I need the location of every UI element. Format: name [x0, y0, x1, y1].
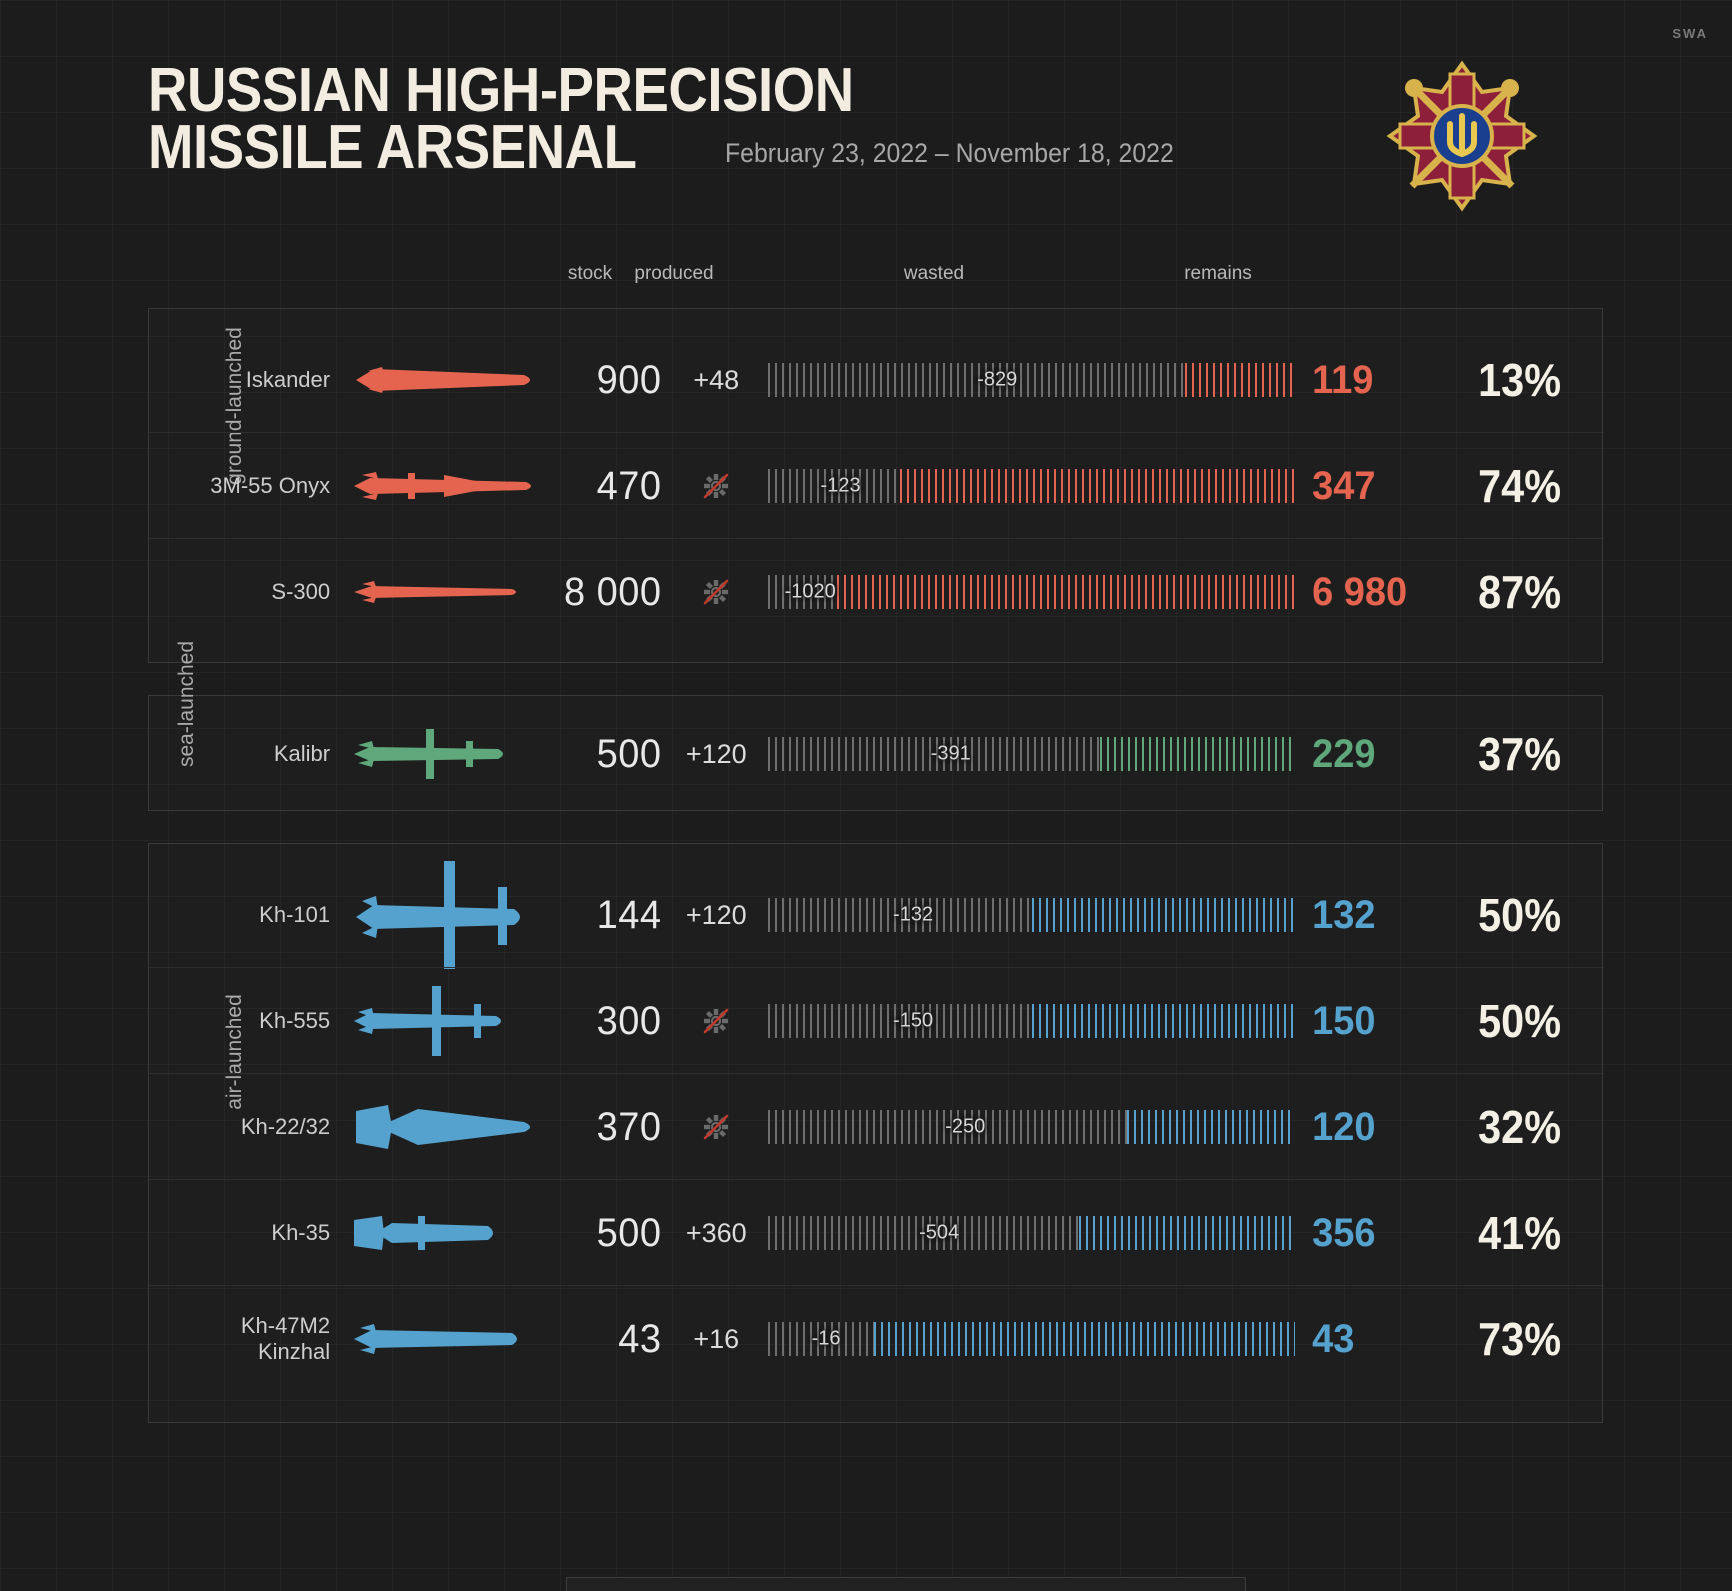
stock-value: 300 — [550, 999, 662, 1044]
no-production-icon — [701, 1006, 731, 1036]
missile-row[interactable]: Kh-35 500 +360 -504 356 41% — [149, 1180, 1604, 1286]
wasted-remains-bar: -123 — [768, 463, 1295, 509]
bar-segment-remains — [1127, 1110, 1296, 1144]
page-title-line2: MISSILE ARSENAL — [148, 119, 637, 176]
remains-value: 347 — [1295, 464, 1427, 509]
watermark-label: SWA — [1672, 26, 1708, 41]
missile-row[interactable]: Kh-47M2Kinzhal 43 +16 -16 43 73% — [149, 1286, 1604, 1392]
remains-percent-value: 32% — [1443, 1100, 1595, 1154]
produced-value — [665, 577, 768, 607]
missile-row[interactable]: Kalibr 500 +120 -391 229 37% — [149, 701, 1604, 807]
missile-row[interactable]: S-300 8 000 — [149, 539, 1604, 645]
stock-value: 470 — [550, 464, 662, 509]
missile-kalibr-icon — [348, 725, 547, 783]
missile-name-label: S-300 — [149, 579, 348, 605]
column-header-produced: produced — [620, 263, 728, 285]
missile-row[interactable]: 3M-55 Onyx 470 — [149, 433, 1604, 539]
missile-kinzhal-icon — [348, 1322, 547, 1356]
wasted-value-label: -829 — [977, 369, 1017, 392]
missile-name-label: Kh-47M2Kinzhal — [149, 1313, 348, 1365]
bar-segment-remains — [1079, 1216, 1295, 1250]
missile-name-label: Kh-22/32 — [149, 1114, 348, 1140]
missile-kh101-icon — [348, 855, 547, 975]
wasted-value-label: -132 — [893, 904, 933, 927]
bar-segment-remains — [1100, 737, 1295, 771]
stock-value: 43 — [550, 1317, 662, 1362]
wasted-remains-bar: -504 — [768, 1210, 1295, 1256]
wasted-value-label: -504 — [919, 1222, 959, 1245]
remains-percent-value: 87% — [1443, 565, 1595, 619]
missile-iskander-icon — [348, 363, 547, 397]
produced-value: +16 — [665, 1324, 768, 1355]
wasted-remains-bar: -1020 — [768, 569, 1295, 615]
remains-percent-value: 41% — [1443, 1206, 1595, 1260]
wasted-value-label: -250 — [945, 1116, 985, 1139]
produced-value: +48 — [665, 365, 768, 396]
produced-value — [665, 1112, 768, 1142]
produced-value — [665, 1006, 768, 1036]
remains-value: 132 — [1295, 893, 1427, 938]
missile-s300-icon — [348, 579, 547, 605]
missile-name-label: Kalibr — [149, 741, 348, 767]
group-sea-launched: sea-launched Kalibr 500 +120 -391 229 37… — [148, 695, 1603, 811]
wasted-remains-bar: -132 — [768, 892, 1295, 938]
stock-value: 900 — [550, 358, 662, 403]
infographic-root: SWA RUSSIAN HIGH-PRECISION MISSILE ARSEN… — [0, 0, 1732, 1591]
missile-name-label: 3M-55 Onyx — [149, 473, 348, 499]
ukraine-armed-forces-emblem-icon — [1382, 58, 1542, 218]
bar-segment-remains — [900, 469, 1296, 503]
wasted-value-label: -1020 — [785, 581, 836, 604]
stock-value: 144 — [550, 893, 662, 938]
column-header-wasted: wasted — [860, 263, 1008, 285]
wasted-value-label: -123 — [821, 475, 861, 498]
date-range-subtitle: February 23, 2022 – November 18, 2022 — [725, 138, 1174, 176]
stock-value: 500 — [550, 1211, 662, 1256]
missile-row[interactable]: Kh-101 144 +120 -132 132 50% — [149, 862, 1604, 968]
wasted-value-label: -150 — [893, 1010, 933, 1033]
produced-value: +120 — [665, 739, 768, 770]
bar-segment-remains — [837, 575, 1296, 609]
wasted-remains-bar: -829 — [768, 357, 1295, 403]
missile-name-label: Iskander — [149, 367, 348, 393]
column-header-remains: remains — [1155, 263, 1281, 285]
stock-value: 370 — [550, 1105, 662, 1150]
no-production-icon — [701, 577, 731, 607]
remains-percent-value: 73% — [1443, 1312, 1595, 1366]
missile-row[interactable]: Iskander 900 +48 -829 119 13% — [149, 327, 1604, 433]
wasted-value-label: -16 — [812, 1328, 841, 1351]
stock-value: 8 000 — [550, 570, 662, 615]
missile-row[interactable]: Kh-22/32 370 — [149, 1074, 1604, 1180]
missile-row[interactable]: Kh-555 300 — [149, 968, 1604, 1074]
remains-value: 150 — [1295, 999, 1427, 1044]
missile-kh22-icon — [348, 1093, 547, 1161]
group-air-launched: air-launched Kh-101 144 +120 -132 132 50… — [148, 843, 1603, 1423]
remains-percent-value: 74% — [1443, 459, 1595, 513]
missile-kh555-icon — [348, 982, 547, 1060]
remains-percent-value: 37% — [1443, 727, 1595, 781]
missile-kh35-icon — [348, 1210, 547, 1256]
remains-value: 120 — [1295, 1105, 1427, 1150]
remains-value: 119 — [1295, 358, 1427, 403]
wasted-remains-bar: -150 — [768, 998, 1295, 1044]
remains-value: 6 980 — [1295, 570, 1427, 615]
bar-segment-remains — [1032, 1004, 1296, 1038]
missile-name-label: Kh-35 — [149, 1220, 348, 1246]
missile-name-label: Kh-555 — [149, 1008, 348, 1034]
bar-segment-remains — [874, 1322, 1296, 1356]
wasted-value-label: -391 — [931, 743, 971, 766]
remains-percent-value: 50% — [1443, 888, 1595, 942]
wasted-remains-bar: -391 — [768, 731, 1295, 777]
wasted-remains-bar: -16 — [768, 1316, 1295, 1362]
remains-percent-value: 50% — [1443, 994, 1595, 1048]
remains-value: 43 — [1295, 1317, 1427, 1362]
remains-value: 356 — [1295, 1211, 1427, 1256]
remains-value: 229 — [1295, 732, 1427, 777]
produced-value — [665, 471, 768, 501]
stock-value: 500 — [550, 732, 662, 777]
bar-segment-remains — [1185, 363, 1296, 397]
missile-name-label: Kh-101 — [149, 902, 348, 928]
no-production-icon — [701, 471, 731, 501]
bottom-accent-bar — [566, 1577, 1246, 1591]
no-production-icon — [701, 1112, 731, 1142]
produced-value: +120 — [665, 900, 768, 931]
header: RUSSIAN HIGH-PRECISION MISSILE ARSENAL F… — [148, 62, 1348, 176]
page-title-line1: RUSSIAN HIGH-PRECISION — [148, 62, 1204, 119]
group-ground-launched: ground-launched Iskander 900 +48 -829 11… — [148, 308, 1603, 663]
remains-percent-value: 13% — [1443, 353, 1595, 407]
missile-onyx-icon — [348, 469, 547, 503]
bar-segment-remains — [1032, 898, 1296, 932]
produced-value: +360 — [665, 1218, 768, 1249]
wasted-remains-bar: -250 — [768, 1104, 1295, 1150]
